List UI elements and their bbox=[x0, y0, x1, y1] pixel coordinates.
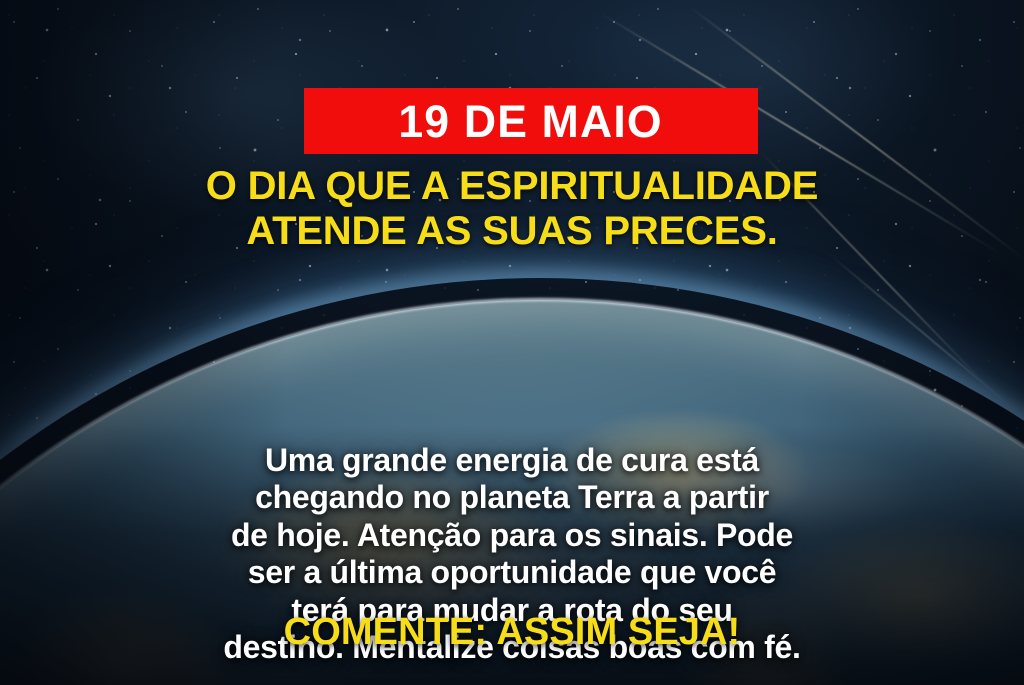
body-line-2: chegando no planeta Terra a partir bbox=[56, 479, 968, 516]
poster-content: 19 DE MAIO O DIA QUE A ESPIRITUALIDADE A… bbox=[0, 0, 1024, 685]
headline-line-2: ATENDE AS SUAS PRECES. bbox=[24, 209, 1000, 254]
date-banner-text: 19 DE MAIO bbox=[399, 99, 663, 144]
body-line-3: de hoje. Atenção para os sinais. Pode bbox=[56, 517, 968, 554]
headline-line-1: O DIA QUE A ESPIRITUALIDADE bbox=[24, 164, 1000, 209]
call-to-action-text: COMENTE: ASSIM SEJA! bbox=[0, 612, 1024, 654]
poster-canvas: 19 DE MAIO O DIA QUE A ESPIRITUALIDADE A… bbox=[0, 0, 1024, 685]
headline: O DIA QUE A ESPIRITUALIDADE ATENDE AS SU… bbox=[0, 164, 1024, 254]
body-line-4: ser a última oportunidade que você bbox=[56, 554, 968, 591]
date-banner: 19 DE MAIO bbox=[304, 88, 758, 154]
body-line-1: Uma grande energia de cura está bbox=[56, 442, 968, 479]
